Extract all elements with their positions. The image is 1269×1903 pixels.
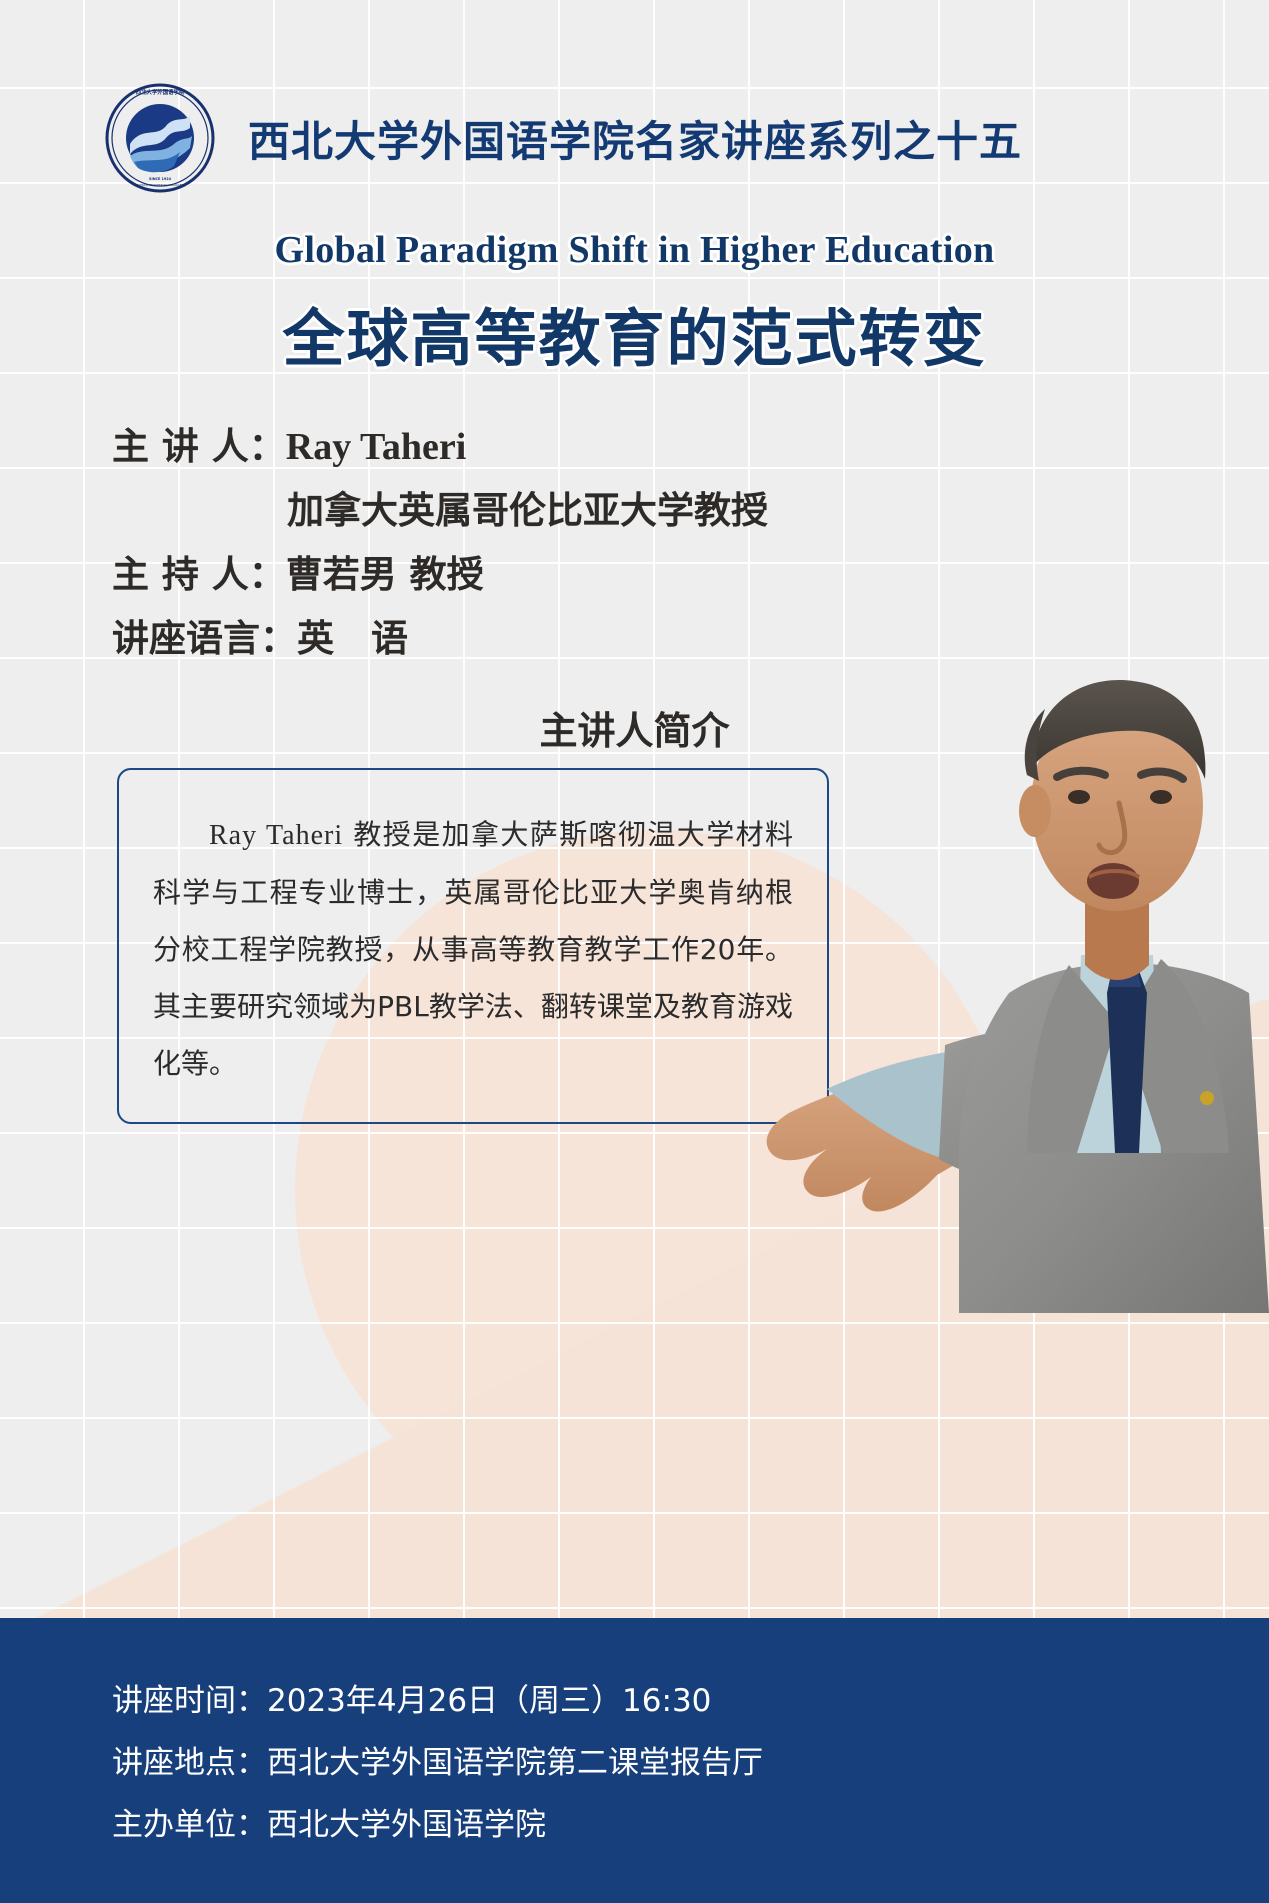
- svg-text:西北大学外国语学院: 西北大学外国语学院: [136, 88, 185, 96]
- poster-header: 西北大学外国语学院 SCHOOL OF FOREIGN LANGUAGES SI…: [0, 78, 1269, 198]
- info-row-speaker: 主 讲 人：Ray Taheri: [112, 415, 1012, 479]
- footer-row-time: 讲座时间：2023年4月26日（周三）16:30: [112, 1670, 1269, 1732]
- poster-series-title: 西北大学外国语学院名家讲座系列之十五: [248, 108, 1022, 169]
- university-logo-icon: 西北大学外国语学院 SCHOOL OF FOREIGN LANGUAGES SI…: [104, 82, 216, 194]
- bio-body-text: 教授是加拿大萨斯喀彻温大学材料科学与工程专业博士，英属哥伦比亚大学奥肯纳根分校工…: [153, 818, 793, 1080]
- lecture-title-chinese: 全球高等教育的范式转变: [0, 288, 1269, 378]
- info-value-language: 英 语: [297, 617, 408, 660]
- info-row-speaker-affiliation: 加拿大英属哥伦比亚大学教授: [112, 479, 1012, 543]
- svg-text:SCHOOL OF FOREIGN LANGUAGES: SCHOOL OF FOREIGN LANGUAGES: [137, 183, 184, 187]
- info-label-host: 主 持 人：: [112, 553, 286, 596]
- lecture-poster: 西北大学外国语学院 SCHOOL OF FOREIGN LANGUAGES SI…: [0, 0, 1269, 1903]
- lecture-title-english: Global Paradigm Shift in Higher Educatio…: [0, 228, 1269, 272]
- footer-row-venue: 讲座地点：西北大学外国语学院第二课堂报告厅: [112, 1732, 1269, 1794]
- bio-paragraph: Ray Taheri 教授是加拿大萨斯喀彻温大学材料科学与工程专业博士，英属哥伦…: [153, 806, 793, 1092]
- info-value-affiliation: 加拿大英属哥伦比亚大学教授: [287, 489, 768, 532]
- footer-row-organizer: 主办单位：西北大学外国语学院: [112, 1794, 1269, 1856]
- info-value-speaker: Ray Taheri: [286, 426, 467, 468]
- poster-footer: 讲座时间：2023年4月26日（周三）16:30 讲座地点：西北大学外国语学院第…: [0, 1618, 1269, 1903]
- info-label-language: 讲座语言：: [112, 617, 297, 660]
- svg-text:SINCE 1924: SINCE 1924: [149, 177, 172, 181]
- bio-latin-name: Ray Taheri: [209, 820, 343, 851]
- speaker-photo: [709, 593, 1269, 1313]
- info-value-host: 曹若男 教授: [286, 553, 484, 596]
- info-label-speaker: 主 讲 人：: [112, 425, 286, 468]
